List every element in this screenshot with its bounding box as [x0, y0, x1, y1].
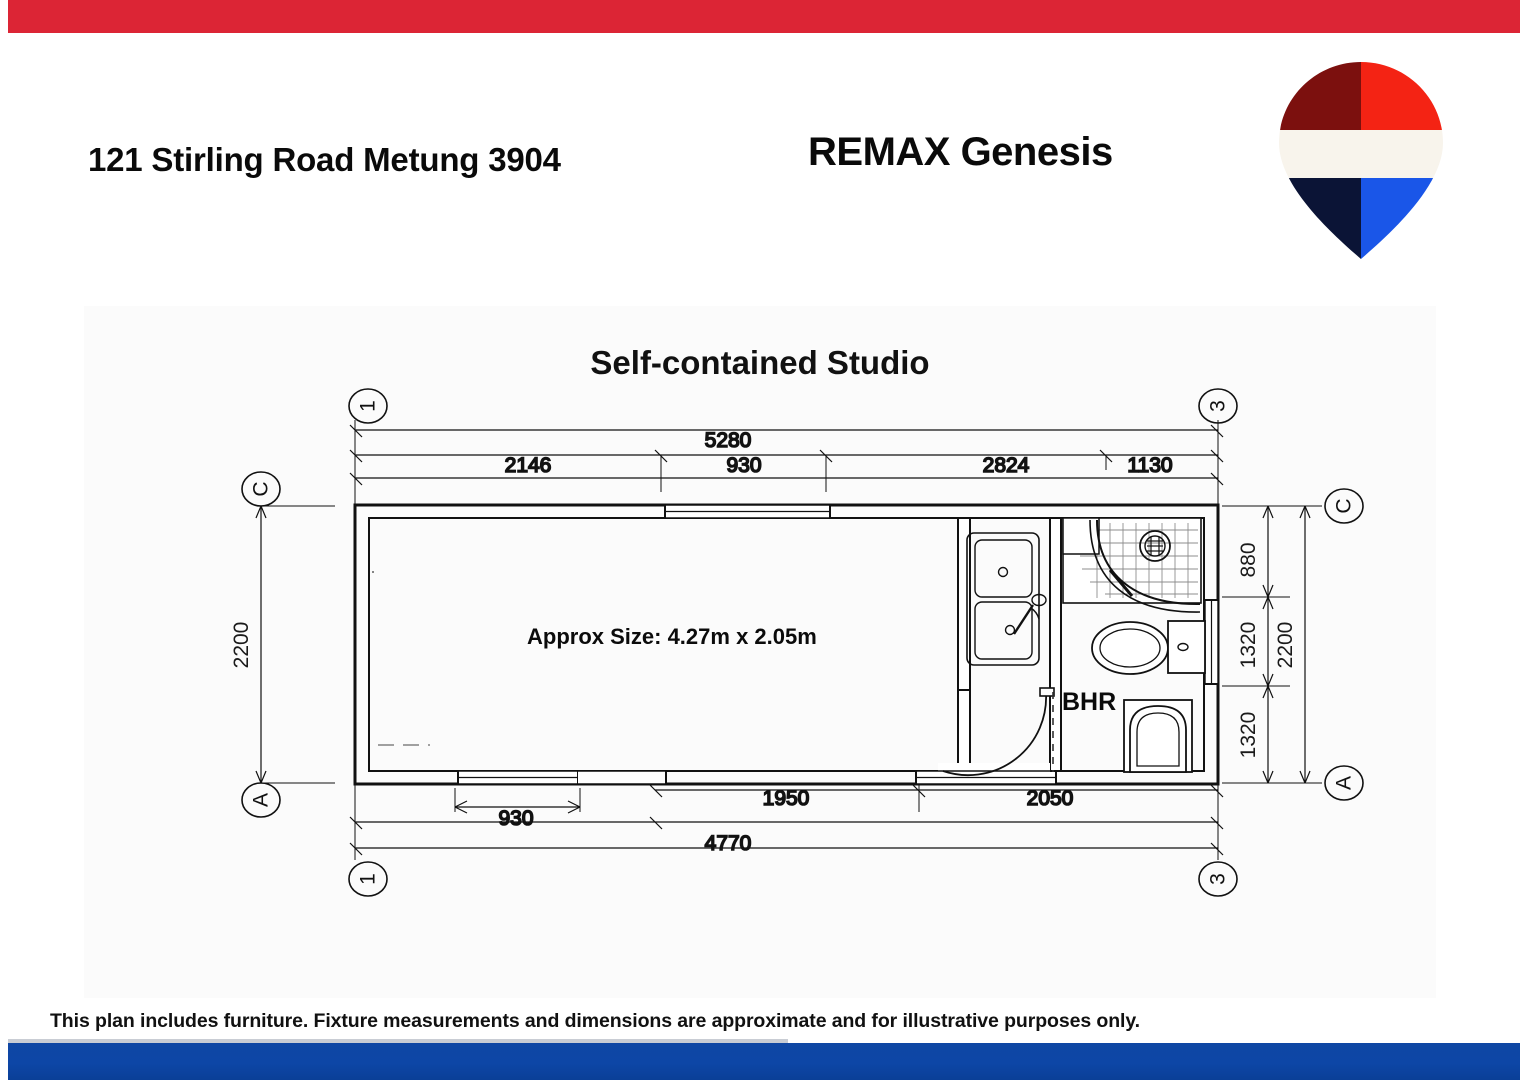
floorplan-page: 121 Stirling Road Metung 3904 REMAX Gene… — [0, 0, 1528, 1080]
page-title: 121 Stirling Road Metung 3904 — [88, 141, 561, 179]
floorplan-panel: Self-contained Studio — [84, 306, 1436, 998]
top-red-band — [8, 0, 1520, 33]
remax-balloon-logo — [1275, 58, 1447, 263]
disclaimer-text: This plan includes furniture. Fixture me… — [50, 1010, 1140, 1033]
plan-heading: Self-contained Studio — [84, 344, 1436, 382]
bottom-blue-band — [8, 1043, 1520, 1080]
brand-name: REMAX Genesis — [808, 130, 1113, 175]
room-size-label: Approx Size: 4.27m x 2.05m — [527, 624, 817, 650]
bhr-label: BHR — [1062, 688, 1116, 717]
